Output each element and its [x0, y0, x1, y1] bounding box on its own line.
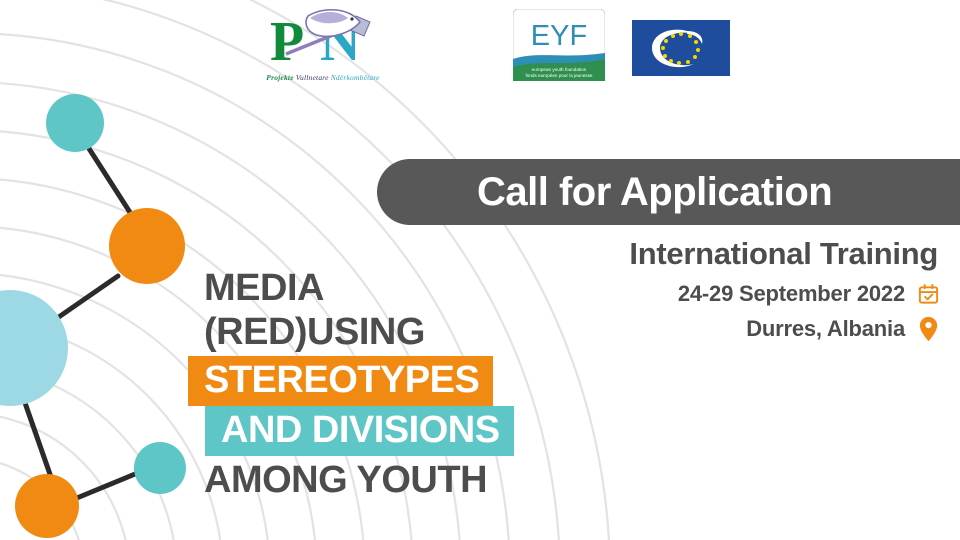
call-for-application-label: Call for Application: [477, 170, 832, 215]
node-orange-lower: [15, 474, 79, 538]
eyf-logo-mark: EYF european youth foundation fonds euro…: [513, 9, 605, 81]
title-line-stereotypes: STEREOTYPES: [188, 356, 493, 406]
node-orange-upper: [109, 208, 185, 284]
event-dates-label: 24-29 September 2022: [678, 281, 905, 307]
call-for-application-banner: Call for Application: [377, 159, 960, 225]
eyf-subtitle-en: european youth foundation: [532, 67, 587, 72]
pvn-logo-caption: Projekte Vullnetare Ndërkombëtare: [248, 73, 398, 82]
event-dates-row: 24-29 September 2022: [520, 281, 940, 307]
pvn-logo: P N Projekte Vullnetare Ndërkombëtare: [248, 4, 398, 94]
pvn-caption-part-2: Vullnetare: [296, 73, 331, 82]
council-of-europe-logo: [632, 20, 730, 76]
event-details: International Training 24-29 September 2…: [520, 236, 940, 342]
eyf-logo: EYF european youth foundation fonds euro…: [513, 9, 605, 81]
network-edge-3: [24, 400, 52, 480]
title-line-and-divisions: AND DIVISIONS: [205, 406, 514, 456]
node-teal-top: [46, 94, 104, 152]
calendar-check-icon: [916, 281, 940, 307]
pvn-caption-part-1: Projekte: [266, 73, 296, 82]
event-location-row: Durres, Albania: [520, 316, 940, 342]
poster-canvas: P N Projekte Vullnetare Ndërkombëtare EY…: [0, 0, 960, 540]
network-edge-4: [72, 472, 140, 500]
eyf-subtitle-fr: fonds européen pour la jeunesse: [526, 73, 593, 78]
svg-text:P: P: [270, 11, 304, 72]
node-teal-lower: [134, 442, 186, 494]
pvn-caption-part-3: Ndërkombëtare: [331, 73, 380, 82]
event-type-label: International Training: [520, 236, 940, 272]
event-location-label: Durres, Albania: [746, 316, 905, 342]
node-large-light-teal: [0, 290, 68, 406]
pvn-logo-mark: P N: [264, 4, 382, 72]
map-pin-icon: [916, 316, 940, 342]
svg-text:EYF: EYF: [531, 20, 587, 52]
logo-row: P N Projekte Vullnetare Ndërkombëtare EY…: [0, 0, 960, 96]
coe-logo-mark: [632, 20, 730, 76]
title-line-among-youth: AMONG YOUTH: [188, 458, 608, 502]
